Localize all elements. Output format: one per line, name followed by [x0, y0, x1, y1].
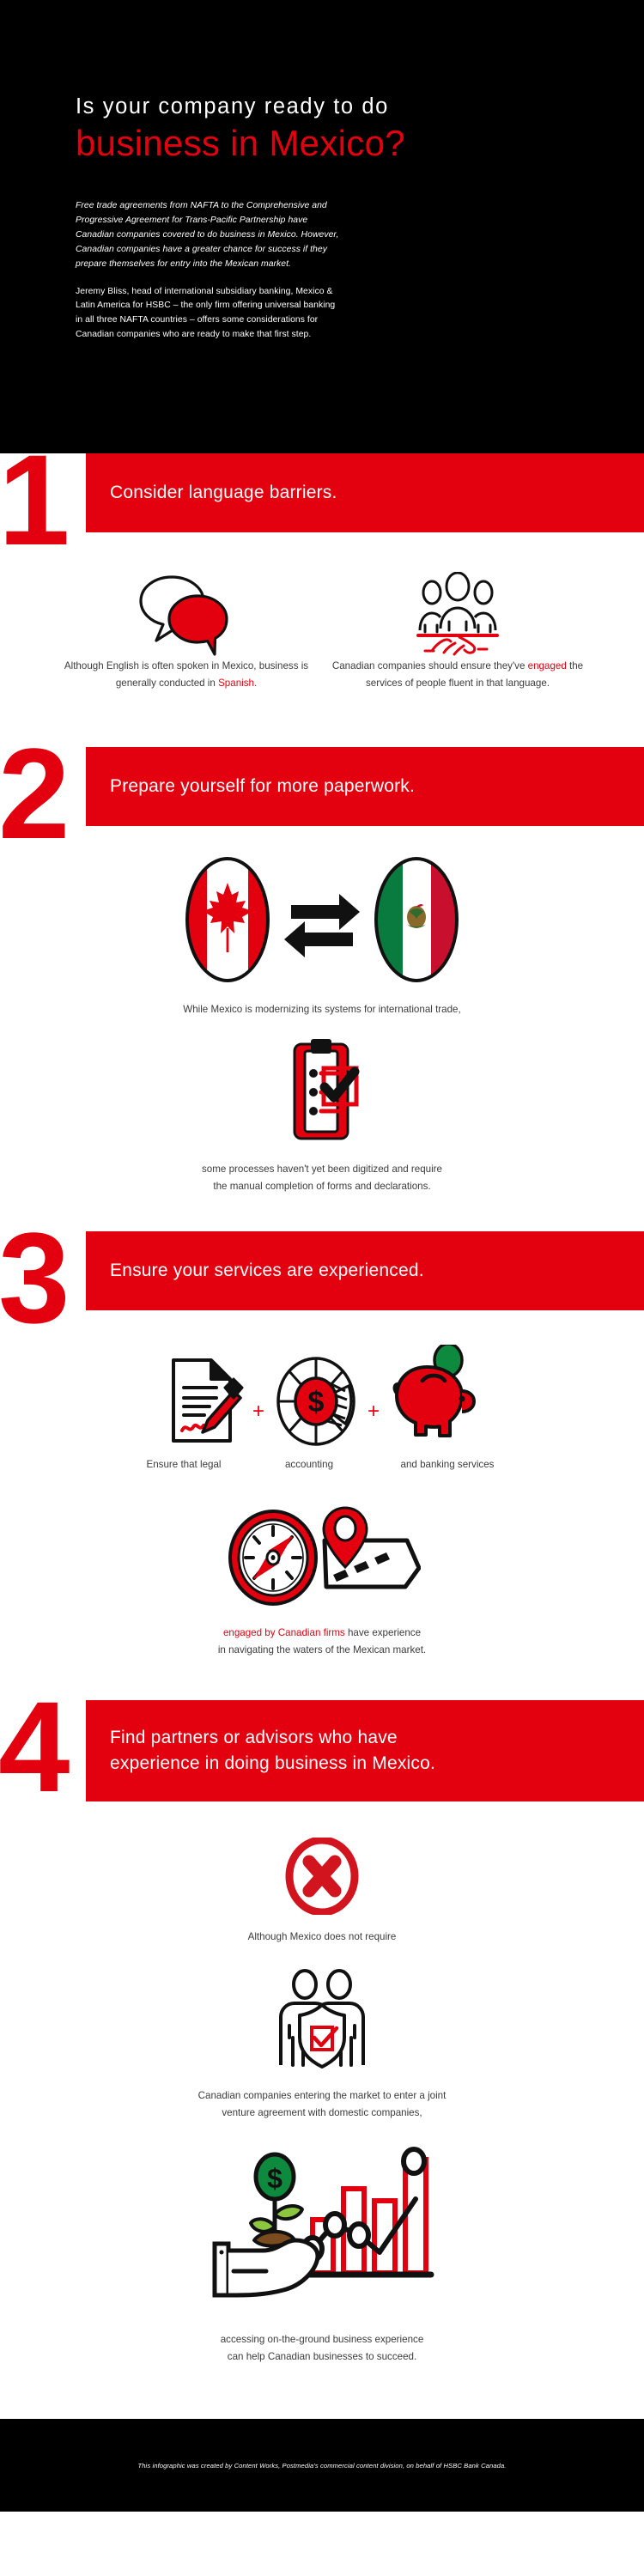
section-4-number: 4 [0, 1700, 91, 1793]
section-1-col-right: Canadian companies should ensure they've… [329, 572, 586, 692]
plus-sign-1: + [244, 1400, 273, 1448]
speech-bubbles-icon-row [58, 572, 315, 658]
section-2-clipboard-row [0, 1039, 644, 1142]
spacer [0, 1915, 644, 1929]
footer: This infographic was created by Content … [0, 2419, 644, 2512]
section-4-caption-2-line2: venture agreement with domestic companie… [0, 2105, 644, 2122]
section-4-shield-row [0, 1969, 644, 2072]
spacer [0, 2122, 644, 2146]
section-1-left-text: Although English is often spoken in Mexi… [58, 658, 315, 692]
section-1-right-text-pre: Canadian companies should ensure they've [332, 660, 528, 671]
section-4-banner-wrap: 4 Find partners or advisors who have exp… [0, 1700, 644, 1801]
clipboard-checklist-icon [270, 1039, 374, 1142]
speech-bubbles-icon [131, 572, 242, 658]
section-1-left-text-pre: Although English is often spoken in Mexi… [64, 660, 308, 689]
pie-chart-dollar-icon: $ [273, 1353, 359, 1448]
section-1-columns: Although English is often spoken in Mexi… [0, 572, 644, 692]
section-4-caption-3-line1: accessing on-the-ground business experie… [0, 2331, 644, 2348]
section-3-caption-rest: have experience [345, 1627, 421, 1638]
section-4-x-row [0, 1838, 644, 1915]
section-1-banner-wrap: 1 Consider language barriers. [0, 453, 644, 532]
spacer [0, 826, 644, 855]
section-3-banner: Ensure your services are experienced. [86, 1231, 644, 1310]
section-2-caption-2: some processes haven't yet been digitize… [0, 1161, 644, 1195]
section-4-caption-2-line1: Canadian companies entering the market t… [0, 2087, 644, 2105]
section-1-right-text: Canadian companies should ensure they've… [329, 658, 586, 692]
spacer [0, 1448, 644, 1456]
svg-text:$: $ [267, 2163, 283, 2194]
hero-section: Is your company ready to do business in … [0, 0, 644, 453]
spacer [0, 532, 644, 572]
section-2-caption-2-line1: some processes haven't yet been digitize… [0, 1161, 644, 1178]
hero-paragraph-1: Free trade agreements from NAFTA to the … [76, 199, 343, 271]
section-1-col-left: Although English is often spoken in Mexi… [58, 572, 315, 692]
hero-title-line2: business in Mexico? [76, 123, 584, 163]
svg-text:$: $ [308, 1386, 325, 1419]
spacer [0, 1142, 644, 1161]
section-1-number: 1 [0, 453, 91, 546]
section-3-caption-line2: in navigating the waters of the Mexican … [0, 1642, 644, 1659]
x-circle-icon [283, 1838, 361, 1915]
spacer [0, 1801, 644, 1838]
section-2-title: Prepare yourself for more paperwork. [110, 774, 415, 799]
hero-body: Free trade agreements from NAFTA to the … [76, 199, 343, 343]
spacer [0, 1195, 644, 1231]
spacer [0, 1945, 644, 1969]
canada-flag-icon [185, 855, 270, 984]
spacer [0, 1018, 644, 1039]
footer-credit: This infographic was created by Content … [138, 2462, 507, 2470]
section-1-title: Consider language barriers. [110, 480, 337, 506]
section-2-caption-1: While Mexico is modernizing its systems … [0, 1001, 644, 1018]
section-3-caption-highlight: engaged by Canadian firms [223, 1627, 345, 1638]
spacer [0, 984, 644, 1001]
spacer [0, 1473, 644, 1499]
spacer [0, 1611, 644, 1625]
section-4-banner: Find partners or advisors who have exper… [86, 1700, 644, 1801]
section-4: 4 Find partners or advisors who have exp… [0, 1700, 644, 2420]
hero-title-line1: Is your company ready to do [76, 94, 584, 119]
label-legal: Ensure that legal [132, 1456, 235, 1473]
section-4-caption-2: Canadian companies entering the market t… [0, 2087, 644, 2122]
section-3-compass-row [0, 1499, 644, 1611]
people-handshake-icon-row [329, 572, 586, 658]
section-3-title: Ensure your services are experienced. [110, 1258, 424, 1284]
label-banking: and banking services [383, 1456, 512, 1473]
section-1: 1 Consider language barriers. Although E… [0, 453, 644, 747]
section-4-caption-3-line2: can help Canadian businesses to succeed. [0, 2348, 644, 2366]
mexico-flag-icon [374, 855, 459, 984]
section-4-title-line2: experience in doing business in Mexico. [110, 1751, 435, 1777]
section-2-banner-wrap: 2 Prepare yourself for more paperwork. [0, 747, 644, 826]
section-1-right-text-highlight: engaged [528, 660, 567, 671]
section-3: 3 Ensure your services are experienced. … [0, 1231, 644, 1700]
section-3-banner-wrap: 3 Ensure your services are experienced. [0, 1231, 644, 1310]
spacer [0, 1659, 644, 1700]
spacer [0, 692, 644, 747]
contract-signing-icon [161, 1353, 244, 1448]
spacer [0, 2072, 644, 2087]
exchange-arrows-icon [270, 855, 374, 984]
section-4-caption-1: Although Mexico does not require [0, 1929, 644, 1946]
section-2: 2 Prepare yourself for more paperwork. [0, 747, 644, 1231]
hero-paragraph-2: Jeremy Bliss, head of international subs… [76, 285, 343, 343]
section-3-number: 3 [0, 1231, 91, 1324]
section-3-caption-line1: engaged by Canadian firms have experienc… [0, 1625, 644, 1642]
spacer [0, 2318, 644, 2331]
section-2-caption-2-line2: the manual completion of forms and decla… [0, 1178, 644, 1195]
plus-sign-2: + [359, 1400, 388, 1448]
section-4-title: Find partners or advisors who have exper… [110, 1725, 435, 1777]
section-3-service-labels: Ensure that legal accounting and banking… [0, 1456, 644, 1473]
section-1-banner: Consider language barriers. [86, 453, 644, 532]
spacer [0, 2366, 644, 2419]
money-plant-growth-chart-icon: $ [206, 2146, 438, 2318]
section-2-flag-row [0, 855, 644, 984]
people-handshake-icon [406, 572, 509, 658]
section-2-banner: Prepare yourself for more paperwork. [86, 747, 644, 826]
section-4-title-line1: Find partners or advisors who have [110, 1725, 435, 1751]
section-3-service-icons: + $ + [0, 1345, 644, 1448]
partners-shield-icon [262, 1969, 382, 2072]
label-accounting: accounting [266, 1456, 352, 1473]
section-4-growth-row: $ [0, 2146, 644, 2318]
section-4-caption-3: accessing on-the-ground business experie… [0, 2331, 644, 2366]
section-2-number: 2 [0, 747, 91, 840]
section-3-caption: engaged by Canadian firms have experienc… [0, 1625, 644, 1659]
section-1-left-text-highlight: Spanish. [218, 677, 257, 689]
spacer [0, 1310, 644, 1345]
compass-map-icon [223, 1499, 421, 1611]
piggy-bank-icon [388, 1345, 483, 1448]
